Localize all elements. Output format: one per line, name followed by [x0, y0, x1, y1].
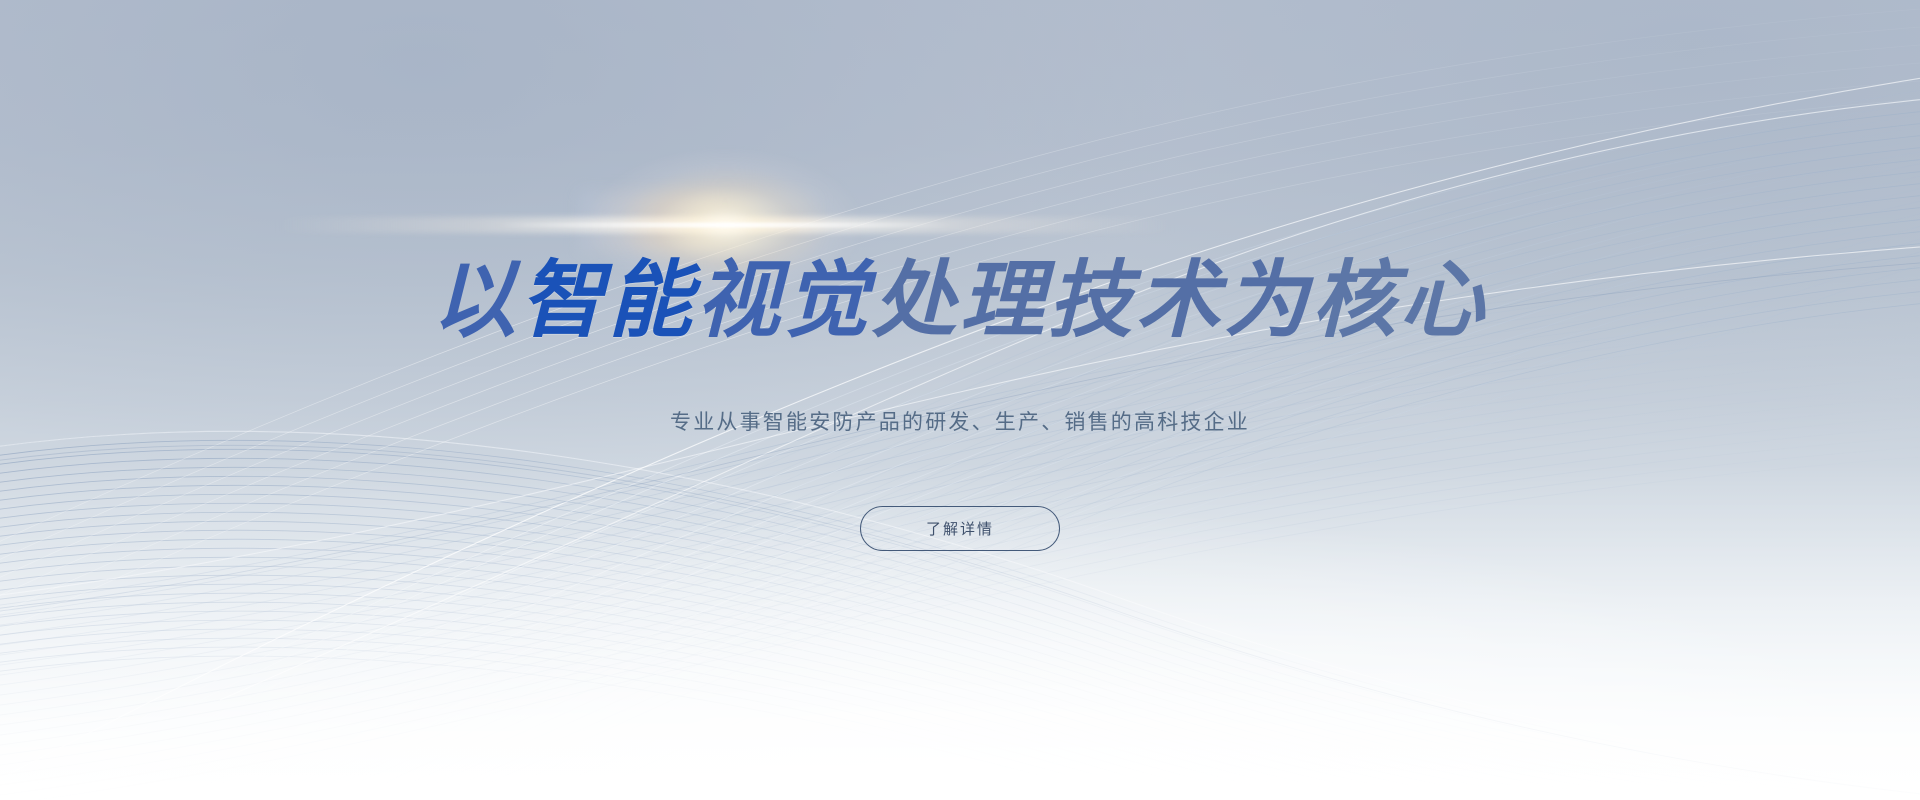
hero-banner: 以智能视觉处理技术为核心 专业从事智能安防产品的研发、生产、销售的高科技企业 了… — [0, 0, 1920, 800]
headline-segment-3: 视觉 — [696, 253, 872, 347]
headline-segment-2: 智能 — [520, 253, 696, 347]
learn-more-button[interactable]: 了解详情 — [860, 506, 1060, 551]
background-wash-left — [0, 0, 1920, 800]
wave-mesh-layer-2 — [0, 0, 1920, 800]
lens-flare-chromatic — [580, 192, 820, 252]
lens-flare-streak — [275, 217, 1175, 233]
wave-mesh-layer-5 — [0, 0, 1920, 800]
wave-mesh-layer-1 — [0, 0, 1920, 800]
background-wash-bottom — [0, 0, 1920, 800]
wave-mesh-layer-4 — [0, 0, 1920, 800]
wave-mesh-layer-3 — [0, 0, 1920, 800]
hero-content: 以智能视觉处理技术为核心 专业从事智能安防产品的研发、生产、销售的高科技企业 了… — [0, 0, 1920, 800]
lens-flare-streak-thin — [495, 223, 955, 228]
headline-segment-5: 核心 — [1312, 253, 1488, 347]
hero-headline: 以智能视觉处理技术为核心 — [432, 258, 1488, 342]
background-fade-bottom — [0, 0, 1920, 800]
background-wash-right — [0, 0, 1920, 800]
headline-segment-4: 处理技术为 — [872, 253, 1312, 347]
hero-subtitle: 专业从事智能安防产品的研发、生产、销售的高科技企业 — [670, 406, 1250, 436]
wave-mesh-highlight-edges — [0, 0, 1920, 800]
headline-segment-1: 以 — [432, 253, 520, 347]
